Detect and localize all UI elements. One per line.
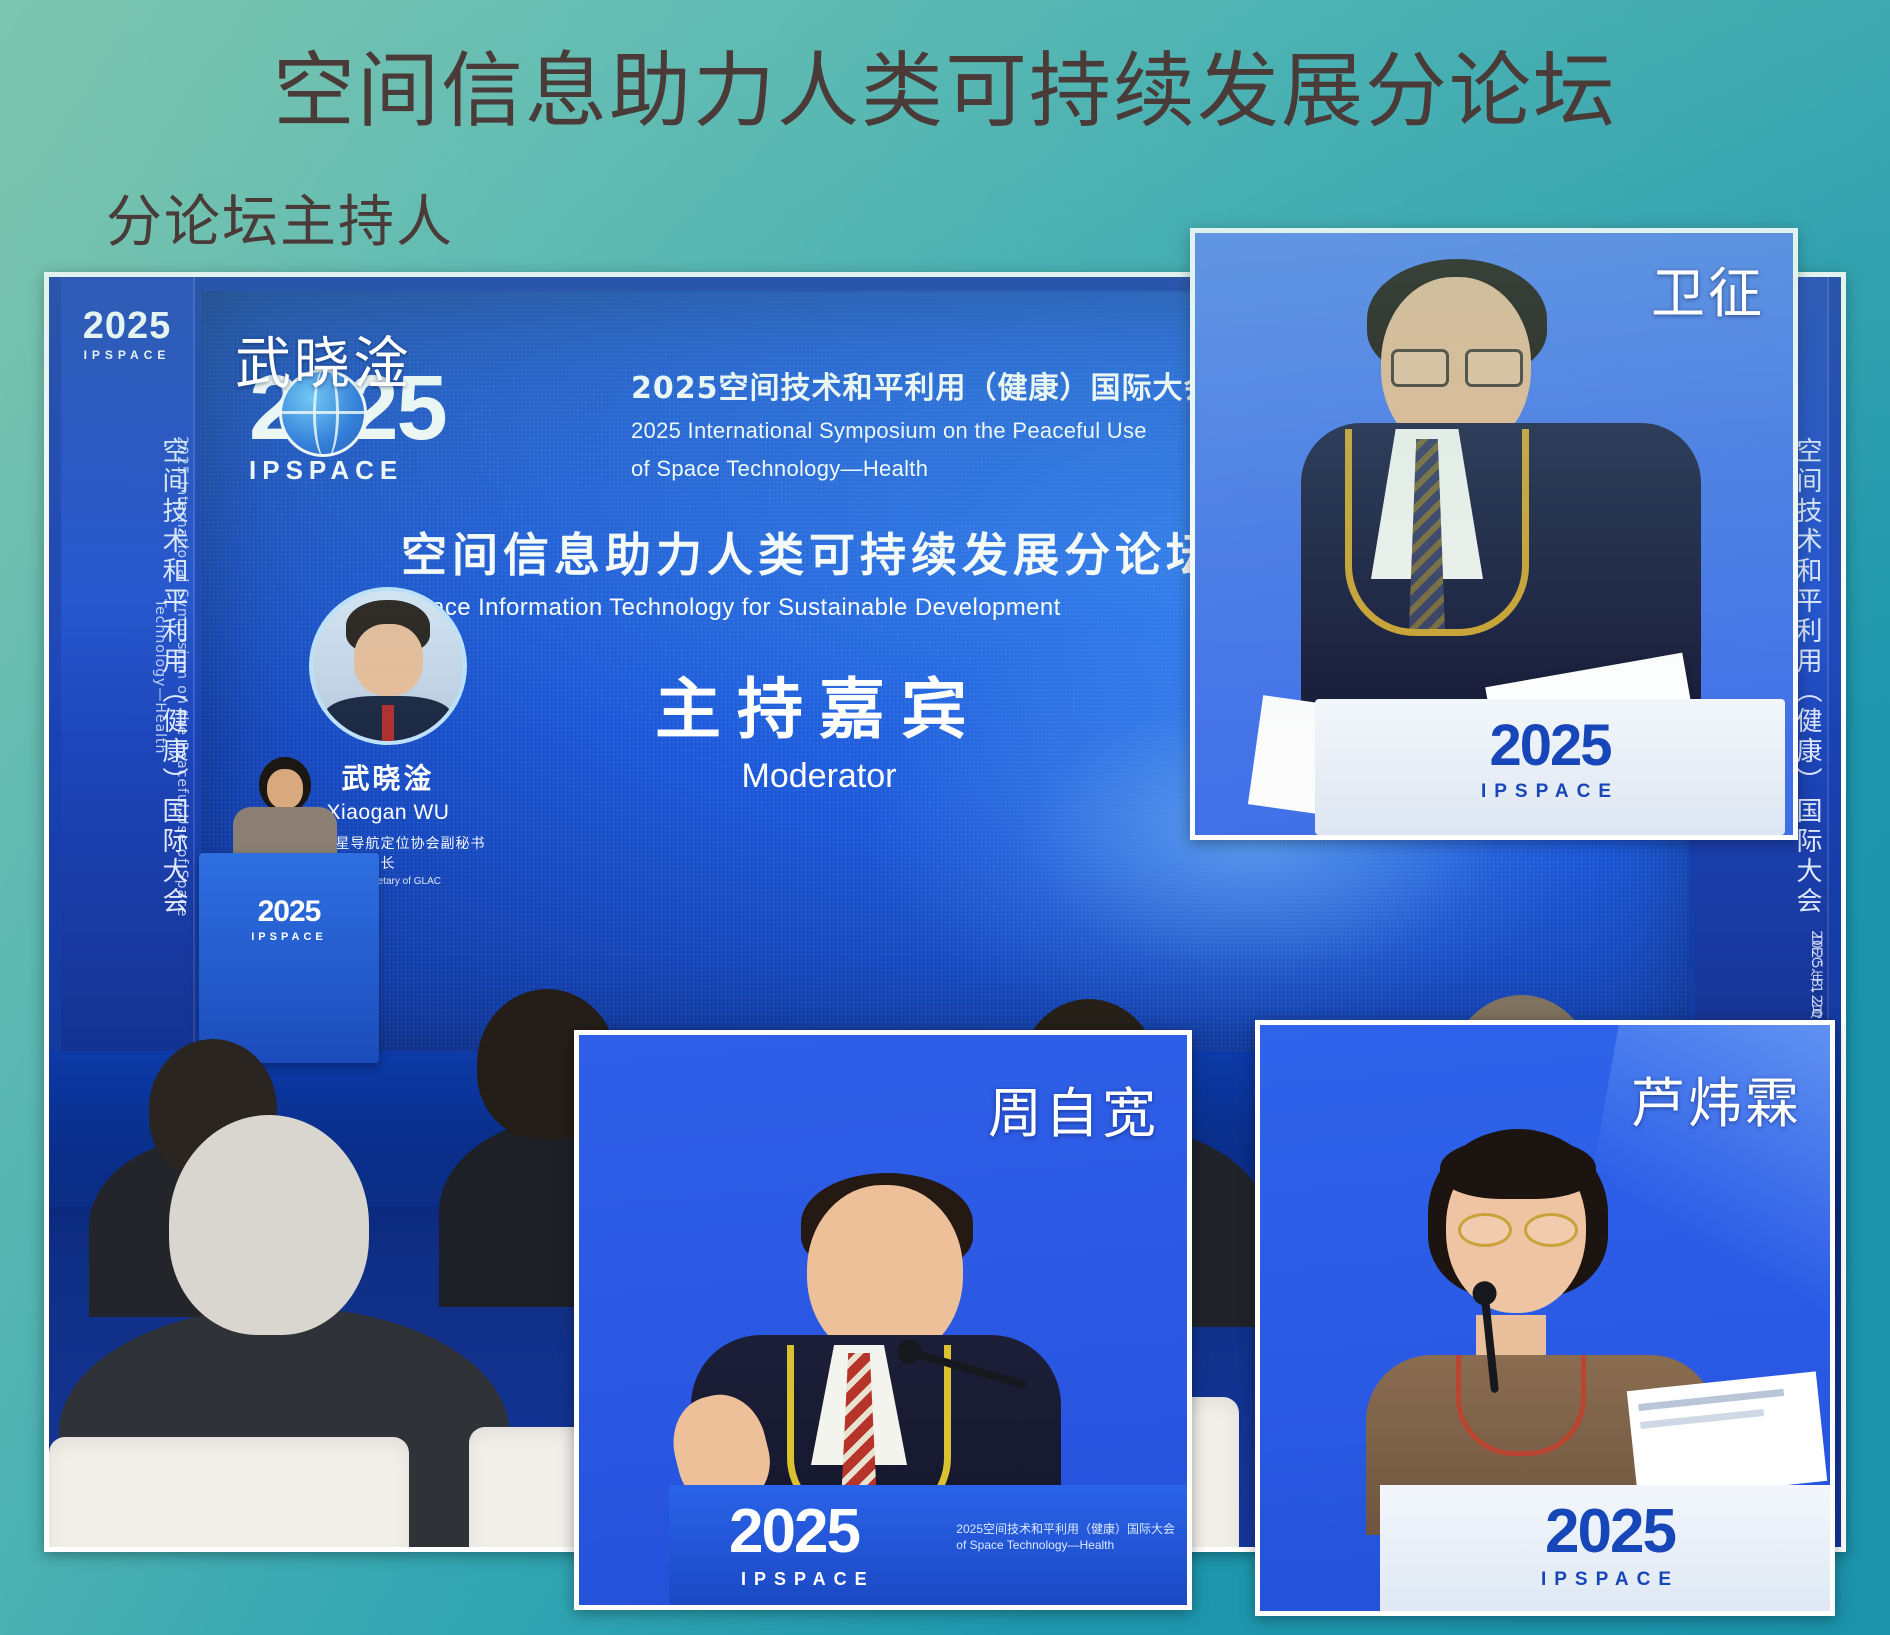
led-event-cn: 2025空间技术和平利用（健康）国际大会 (631, 369, 1215, 409)
lwl-paper (1627, 1371, 1827, 1500)
avatar (309, 587, 467, 745)
banner-left-year-text: 2025 (83, 305, 172, 347)
stage-podium-year: 2025 (199, 895, 379, 929)
lwl-podium-year: 2025 (1380, 1501, 1835, 1563)
stage-speaker-face (267, 769, 303, 809)
led-event-en-1: 2025 International Symposium on the Peac… (631, 415, 1215, 447)
avatar-face (354, 624, 423, 696)
led-topic-en: Space Information Technology for Sustain… (401, 591, 1217, 625)
lwl-podium-brand: IPSPACE (1380, 1569, 1835, 1591)
led-role-en: Moderator (609, 753, 1029, 799)
photo-wei-zheng[interactable]: 2025 IPSPACE 卫征 (1190, 228, 1798, 840)
wz-podium: 2025 IPSPACE (1315, 699, 1785, 835)
wz-podium-brand: IPSPACE (1315, 781, 1785, 803)
led-logo-brand: IPSPACE (249, 455, 446, 486)
zzk-podium-side-text: 2025空间技术和平利用（健康）国际大会 of Space Technology… (956, 1521, 1175, 1553)
label-wu-xiaogan: 武晓淦 (235, 319, 412, 400)
zzk-podium-side-line2: of Space Technology—Health (956, 1537, 1175, 1553)
photo-zhou-zikuan[interactable]: 嘉宾证 2025 IPSPACE 2025空间技术和平利用（健康）国际大会 of… (574, 1030, 1192, 1610)
zzk-podium-brand: IPSPACE (741, 1569, 875, 1590)
led-event-heading: 2025空间技术和平利用（健康）国际大会 2025 International … (631, 369, 1215, 485)
wz-podium-year: 2025 (1315, 717, 1785, 775)
led-event-en-2: of Space Technology—Health (631, 453, 1215, 485)
banner-left-text-en: 2025 International Symposium on the Peac… (113, 427, 193, 927)
stage-podium-brand: IPSPACE (199, 931, 379, 943)
audience-head-gray (169, 1115, 369, 1335)
lwl-hair-fringe (1440, 1137, 1596, 1199)
glasses-icon (1391, 349, 1523, 383)
avatar-tie (382, 705, 394, 741)
led-role-cn: 主持嘉宾 (609, 671, 1029, 749)
banner-left-year: 2025 IPSPACE (61, 305, 193, 362)
led-topic-cn: 空间信息助力人类可持续发展分论坛 (401, 527, 1217, 583)
led-topic: 空间信息助力人类可持续发展分论坛 Space Information Techn… (401, 527, 1217, 625)
lwl-paper-line-1 (1638, 1389, 1784, 1411)
banner-left-brand: IPSPACE (61, 348, 193, 362)
glasses-icon (1458, 1213, 1578, 1243)
label-lu-weilin: 芦炜霖 (1631, 1059, 1802, 1138)
zzk-podium-year: 2025 (729, 1501, 859, 1563)
lwl-necklace (1456, 1355, 1586, 1456)
stage-podium: 2025 IPSPACE (199, 853, 379, 1063)
photo-lu-weilin[interactable]: 2025 IPSPACE 芦炜霖 (1255, 1020, 1835, 1616)
zzk-podium: 2025 IPSPACE 2025空间技术和平利用（健康）国际大会 of Spa… (669, 1485, 1189, 1605)
label-zhou-zikuan: 周自宽 (988, 1069, 1159, 1148)
page-title: 空间信息助力人类可持续发展分论坛 (0, 44, 1890, 140)
zzk-podium-side-line1: 2025空间技术和平利用（健康）国际大会 (956, 1521, 1175, 1537)
led-role: 主持嘉宾 Moderator (609, 671, 1029, 799)
label-wei-zheng: 卫征 (1651, 249, 1765, 328)
seat-back-1 (49, 1437, 409, 1552)
lwl-podium: 2025 IPSPACE (1380, 1485, 1835, 1611)
lwl-paper-line-2 (1640, 1409, 1764, 1429)
section-label: 分论坛主持人 (106, 190, 454, 256)
banner-left: 2025 IPSPACE 空间技术和平利用（健康）国际大会 2025 Inter… (61, 277, 195, 1064)
poster-canvas: 空间信息助力人类可持续发展分论坛 分论坛主持人 2025 IPSPACE 空间技… (0, 0, 1890, 1635)
wz-lanyard (1345, 429, 1529, 636)
